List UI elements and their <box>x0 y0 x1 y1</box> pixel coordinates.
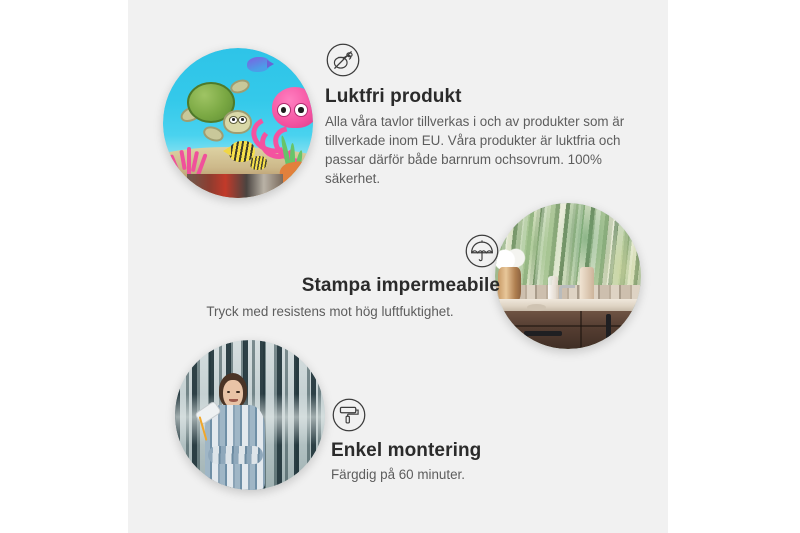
product-image-forest[interactable] <box>175 340 325 490</box>
no-odor-icon <box>325 42 361 78</box>
feature-body: Alla våra tavlor tillverkas i och av pro… <box>325 112 625 188</box>
product-image-bathroom[interactable] <box>495 203 641 349</box>
soap-dish <box>527 304 546 311</box>
octopus-eye <box>277 103 291 117</box>
feature-heading: Stampa impermeabile <box>160 275 500 297</box>
product-image-ocean[interactable] <box>163 48 313 198</box>
cabinet-handle <box>606 314 611 340</box>
vanity-seam <box>504 325 641 327</box>
vanity-seam <box>580 311 582 349</box>
blue-fish <box>247 57 270 72</box>
ocean-floor-rocks <box>187 174 283 198</box>
feature-waterproof: Stampa impermeabile Tryck med resistens … <box>160 233 500 321</box>
bathroom-photo <box>495 203 641 349</box>
turtle-head <box>223 110 251 134</box>
turtle-eye <box>229 116 238 124</box>
small-yellow-fish <box>250 156 267 170</box>
woman-with-roller <box>199 373 277 490</box>
content-panel: Luktfri produkt Alla våra tavlor tillver… <box>128 0 668 533</box>
icon-wrap <box>331 397 631 433</box>
sea-turtle <box>181 78 253 138</box>
roller-head <box>194 400 222 425</box>
ocean-illustration <box>163 48 313 198</box>
page-canvas: Luktfri produkt Alla våra tavlor tillver… <box>0 0 800 533</box>
icon-wrap <box>160 233 500 269</box>
woman-crossed-arms <box>208 446 263 465</box>
feature-body: Färgdig på 60 minuter. <box>331 465 631 484</box>
feature-odorless: Luktfri produkt Alla våra tavlor tillver… <box>325 42 625 188</box>
umbrella-icon <box>464 233 500 269</box>
feature-easy-install: Enkel montering Färgdig på 60 minuter. <box>331 397 631 484</box>
paint-roller-icon <box>331 397 367 433</box>
feature-heading: Luktfri produkt <box>325 86 625 108</box>
icon-wrap <box>325 42 625 78</box>
octopus-head <box>272 87 313 128</box>
feature-body: Tryck med resistens mot hög luftfuktighe… <box>160 302 500 321</box>
drawer-handle <box>524 331 562 336</box>
wood-vanity <box>504 311 641 349</box>
bathroom-bottle <box>548 276 558 301</box>
turtle-eye <box>238 116 247 124</box>
feature-heading: Enkel montering <box>331 440 631 462</box>
forest-photo <box>175 340 325 490</box>
octopus-eye <box>294 103 308 117</box>
paint-roller-prop <box>196 406 218 441</box>
bathroom-bottle <box>580 267 595 302</box>
